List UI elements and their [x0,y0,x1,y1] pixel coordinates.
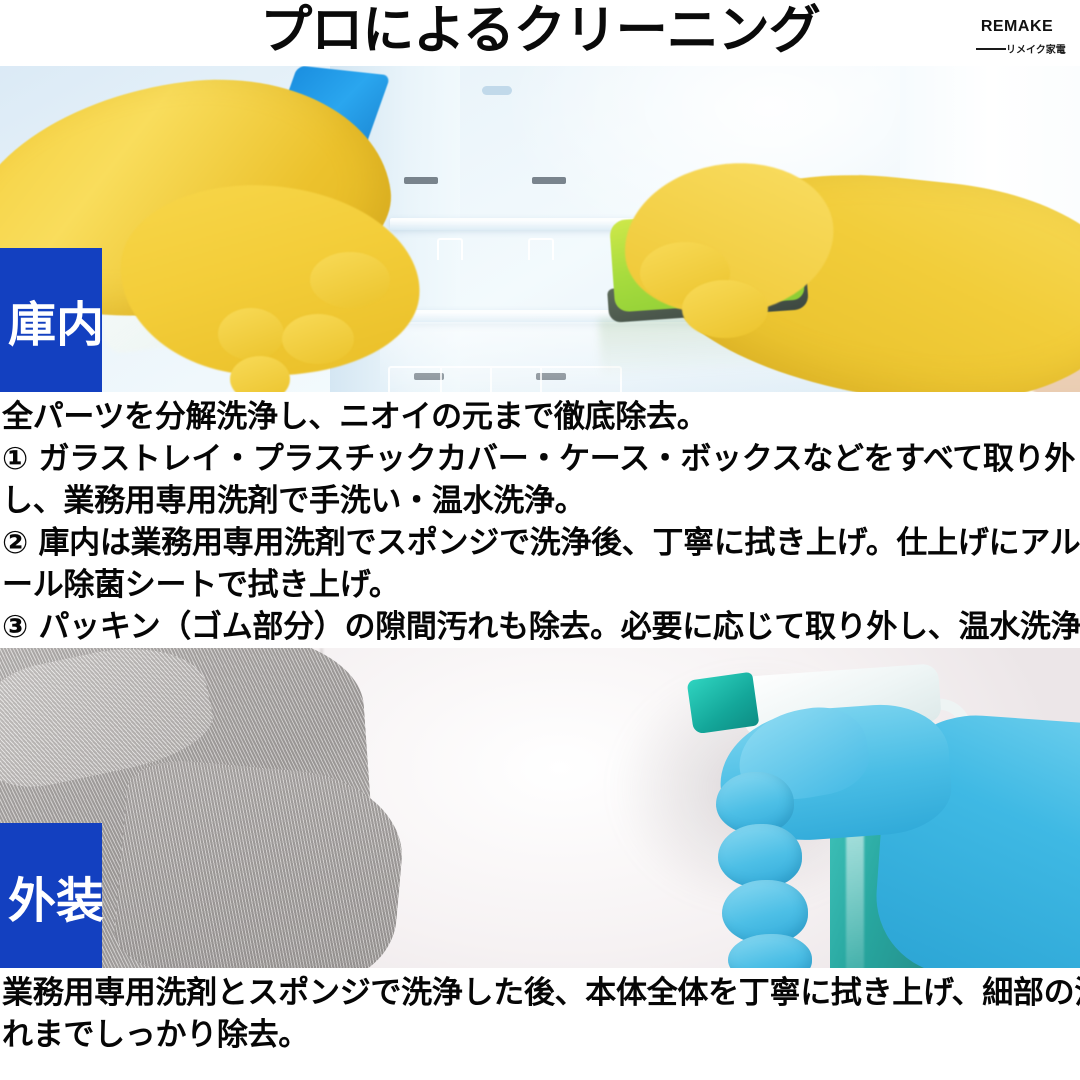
description-line: れまでしっかり除去。 [2,1014,1078,1056]
fridge-rack-bar [540,368,542,392]
description-line: 業務用専用洗剤とスポンジで洗浄した後、本体全体を丁寧に拭き上げ、細部の汚 [2,972,1078,1014]
fridge-bracket [528,238,554,260]
fridge-rack-bar [490,368,492,392]
spray-nozzle [687,672,760,735]
logo-wordmark: REMAKE [972,10,1062,44]
page-title: プロによるクリーニング [0,0,1080,64]
page-header: プロによるクリーニング REMAKE リメイク家電 [0,0,1080,66]
glove-finger [310,252,390,308]
description-line: ② 庫内は業務用専用洗剤でスポンジで洗浄後、丁寧に拭き上げ。仕上げにアルコ [2,522,1078,564]
description-line: ③ パッキン（ゴム部分）の隙間汚れも除去。必要に応じて取り外し、温水洗浄。 [2,606,1078,648]
photo-interior [0,66,1080,392]
photo-exterior [0,648,1080,968]
description-exterior: 業務用専用洗剤とスポンジで洗浄した後、本体全体を丁寧に拭き上げ、細部の汚 れまで… [0,972,1080,1056]
glove-finger [218,308,284,360]
glove-finger [718,824,802,888]
glove-finger [682,280,768,338]
description-interior: 全パーツを分解洗浄し、ニオイの元まで徹底除去。 ① ガラストレイ・プラスチックカ… [0,396,1080,648]
badge-exterior: 外装 [0,823,102,968]
description-line: ① ガラストレイ・プラスチックカバー・ケース・ボックスなどをすべて取り外 [2,438,1078,480]
fridge-clip [532,177,566,184]
description-line: し、業務用専用洗剤で手洗い・温水洗浄。 [2,480,1078,522]
promo-page: プロによるクリーニング REMAKE リメイク家電 [0,0,1080,1080]
fridge-rack-bar [440,368,442,392]
badge-interior: 庫内 [0,248,102,392]
glove-finger [282,314,354,364]
fridge-bracket [437,238,463,260]
remake-logo: REMAKE リメイク家電 [970,8,1070,60]
logo-rule [976,48,1006,50]
logo-subtitle: リメイク家電 [1006,41,1066,56]
description-line: 全パーツを分解洗浄し、ニオイの元まで徹底除去。 [2,396,1078,438]
fridge-door-slot [482,86,512,95]
description-line: ール除菌シートで拭き上げ。 [2,564,1078,606]
fridge-clip [404,177,438,184]
fridge-wire-rack [388,366,622,392]
